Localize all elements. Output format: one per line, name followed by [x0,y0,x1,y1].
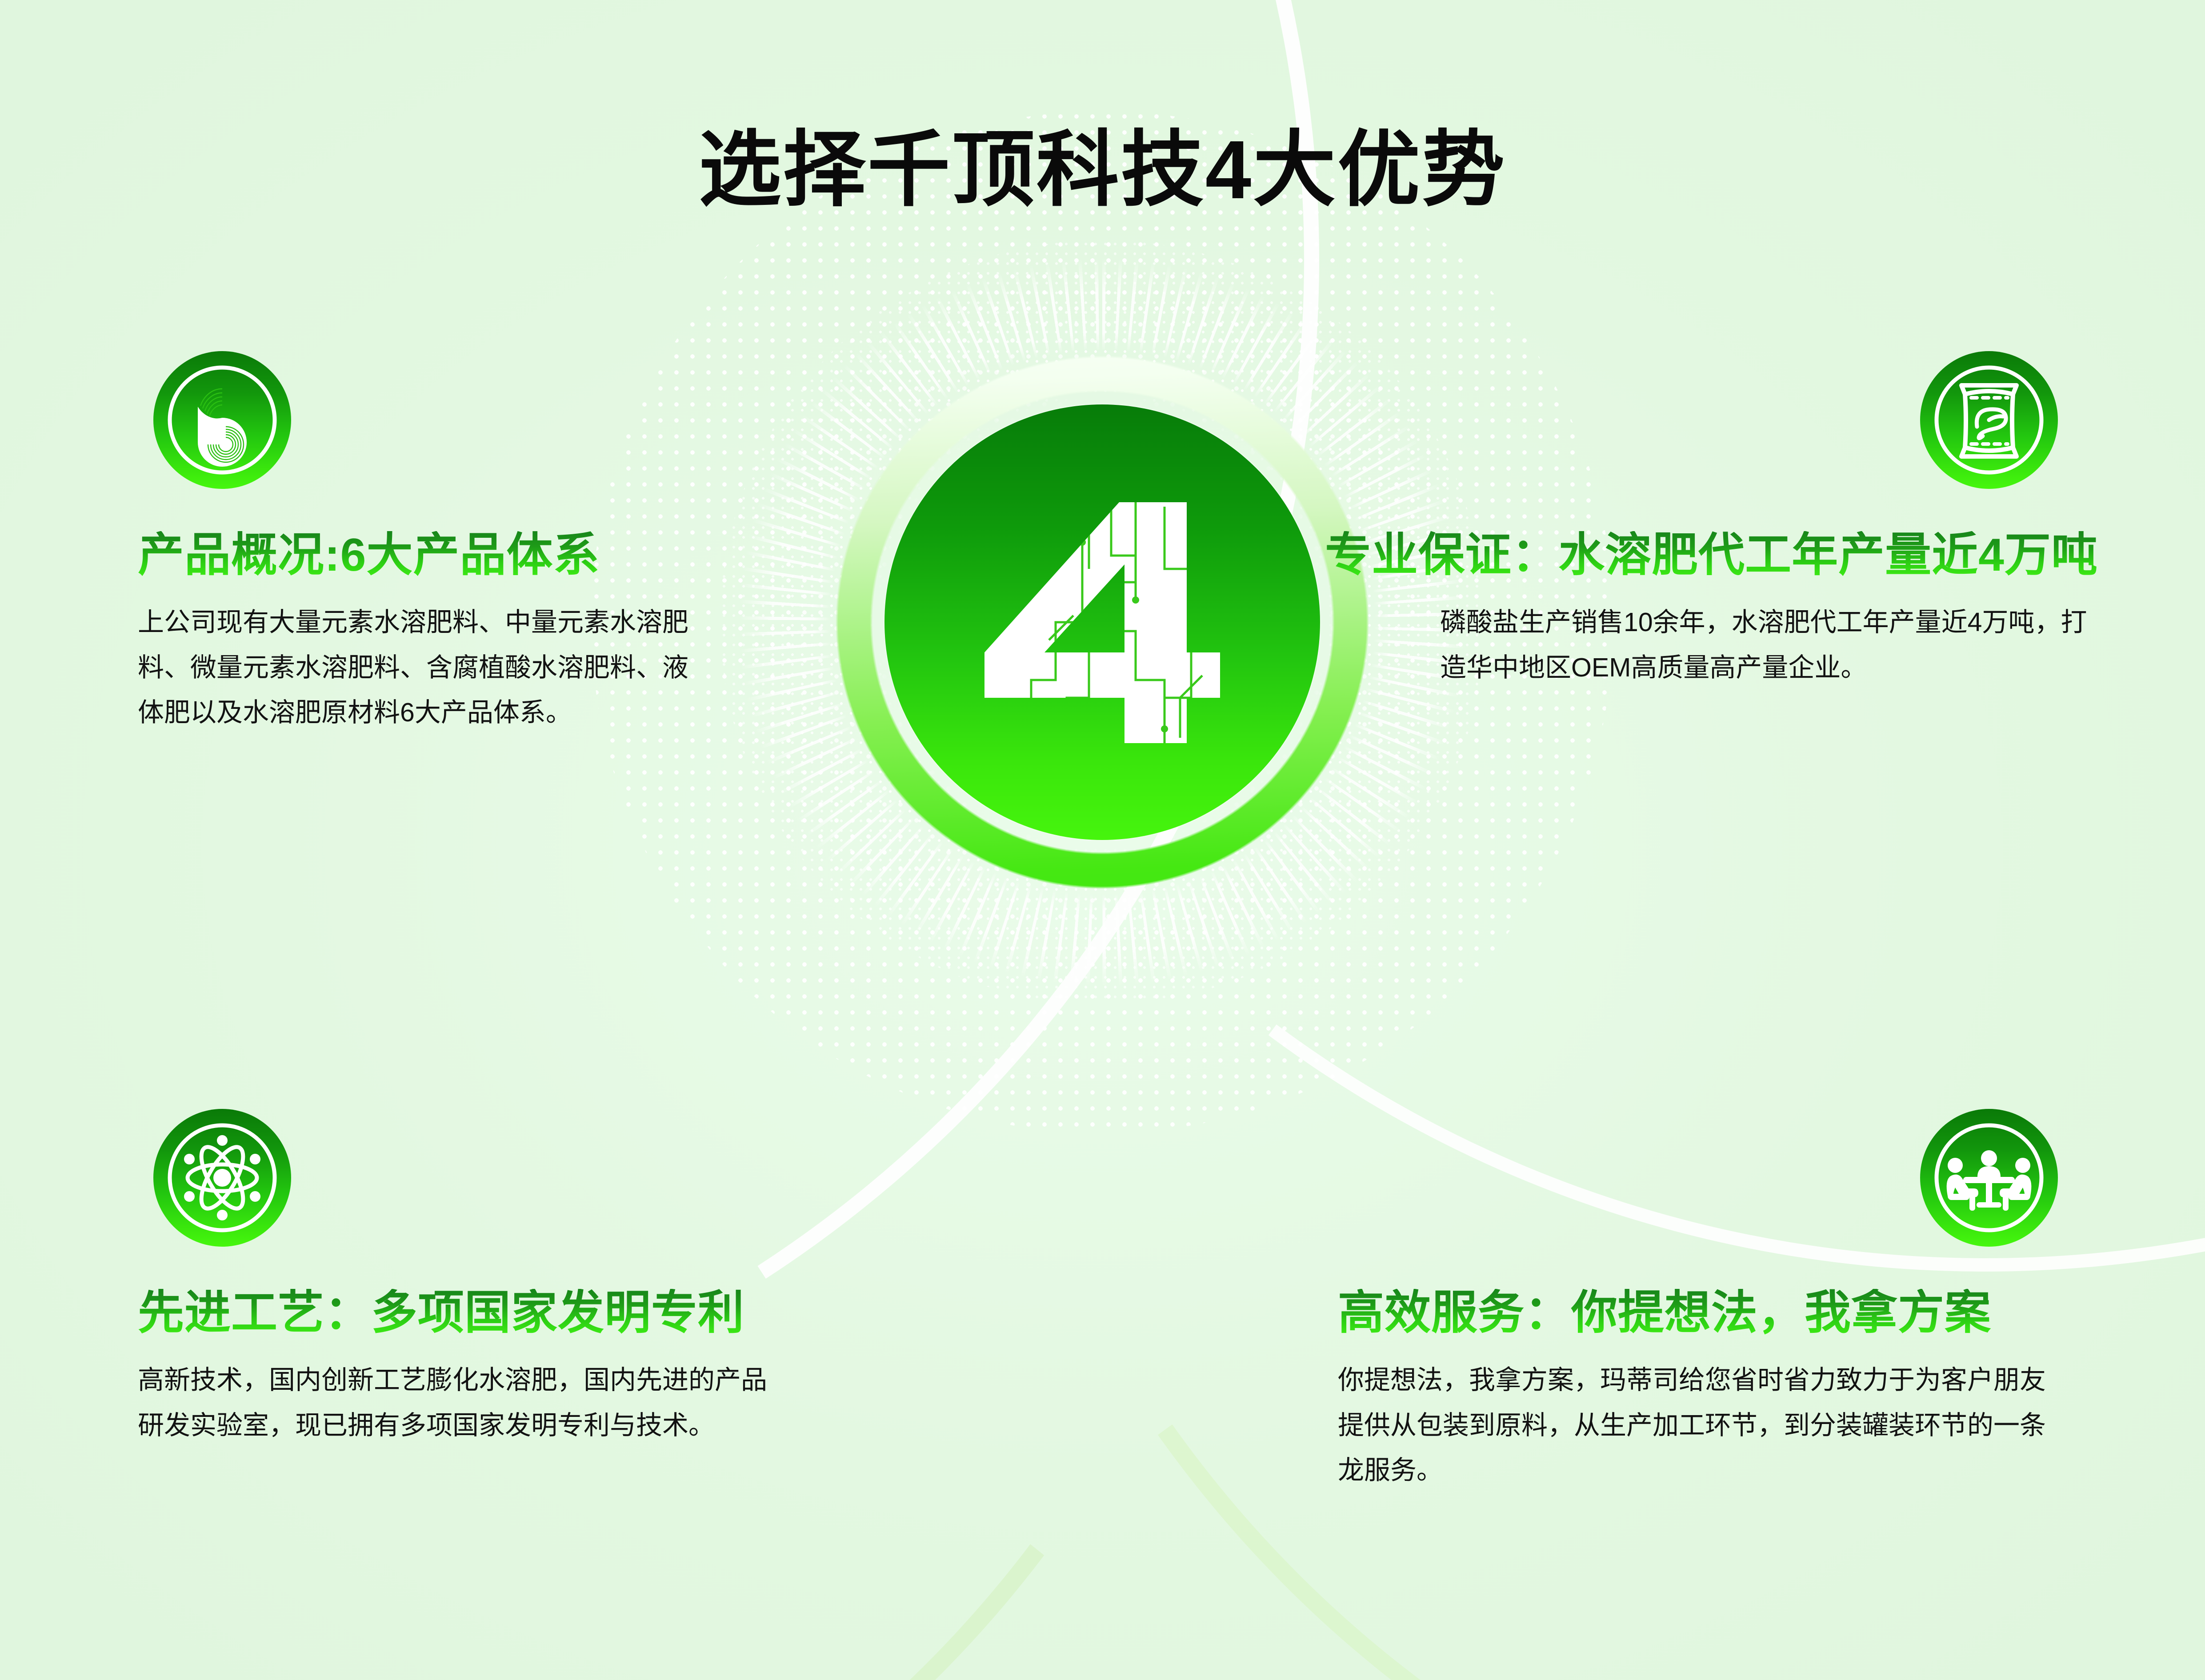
advantage-heading: 专业保证：水溶肥代工年产量近4万吨 [1209,531,2098,580]
page-title-wrap: 选择千顶科技4大优势 [0,102,2205,222]
badge-product-overview[interactable] [153,351,291,489]
advantage-heading: 先进工艺：多项国家发明专利 [138,1289,893,1337]
atom-icon [156,1111,289,1244]
badge-efficient-service[interactable] [1920,1109,2058,1247]
page-title: 选择千顶科技4大优势 [699,124,1506,216]
advantage-block-top-left: 产品概况:6大产品体系 上公司现有大量元素水溶肥料、中量元素水溶肥料、微量元素水… [138,531,698,736]
advantage-body: 高新技术，国内创新工艺膨化水溶肥，国内先进的产品研发实验室，现已拥有多项国家发明… [138,1358,769,1448]
advantage-body: 上公司现有大量元素水溶肥料、中量元素水溶肥料、微量元素水溶肥料、含腐植酸水溶肥料… [138,600,698,735]
advantage-heading: 产品概况:6大产品体系 [138,531,698,580]
advantage-block-top-right: 专业保证：水溶肥代工年产量近4万吨 磷酸盐生产销售10余年，水溶肥代工年产量近4… [1209,531,2098,690]
badge-professional-guarantee[interactable] [1920,351,2058,489]
advantage-body: 你提想法，我拿方案，玛蒂司给您省时省力致力于为客户朋友提供从包装到原料，从生产加… [1338,1358,2067,1493]
meeting-people-icon [1922,1111,2056,1244]
advantage-block-bottom-left: 先进工艺：多项国家发明专利 高新技术，国内创新工艺膨化水溶肥，国内先进的产品研发… [138,1289,893,1448]
number-six-badge-icon [156,353,289,487]
advantage-block-bottom-right: 高效服务：你提想法，我拿方案 你提想法，我拿方案，玛蒂司给您省时省力致力于为客户… [1338,1289,2102,1493]
infographic-canvas: 选择千顶科技4大优势 [0,0,2205,1680]
advantage-heading: 高效服务：你提想法，我拿方案 [1338,1289,2102,1337]
advantage-body: 磷酸盐生产销售10余年，水溶肥代工年产量近4万吨，打造华中地区OEM高质量高产量… [1440,600,2098,690]
badge-advanced-process[interactable] [153,1109,291,1247]
center-number-four-icon [978,489,1227,756]
fertilizer-bag-icon [1922,353,2056,487]
